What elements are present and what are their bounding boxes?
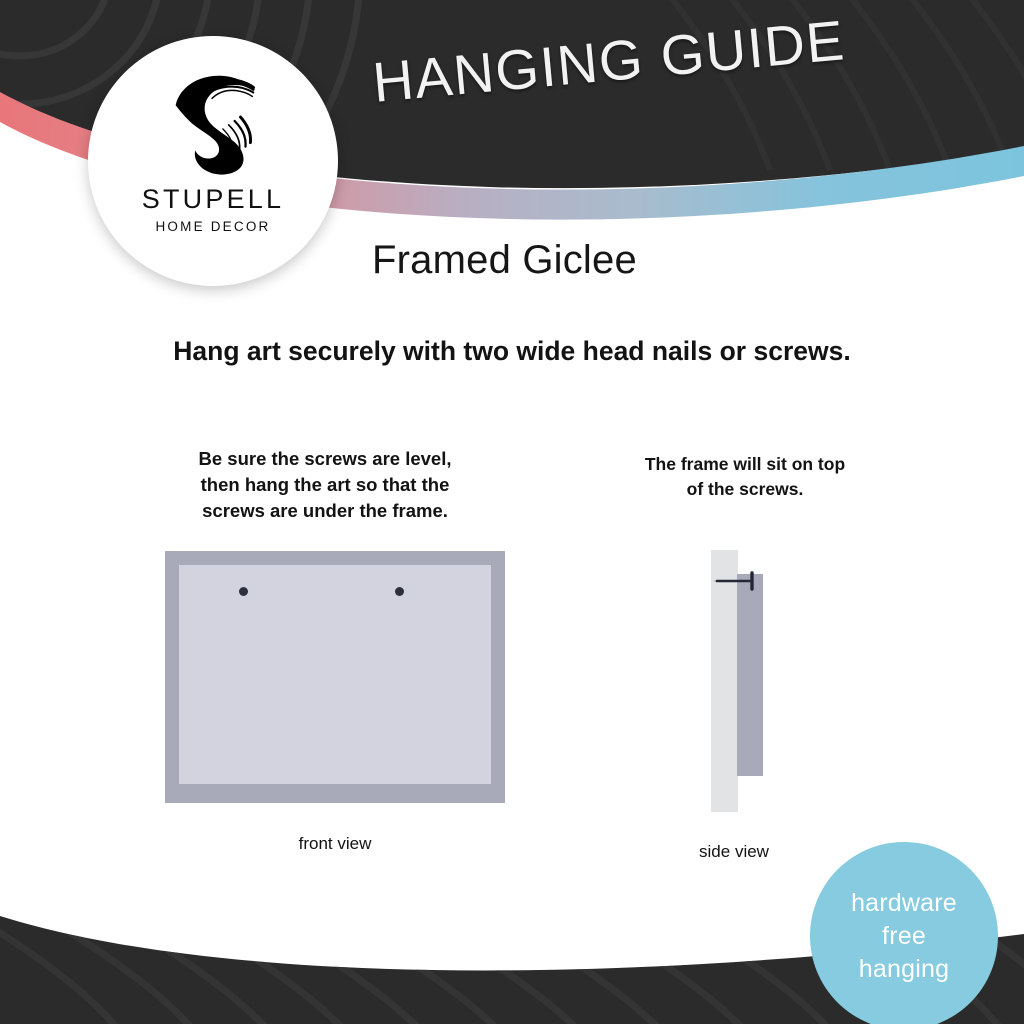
page-title: HANGING GUIDE bbox=[370, 3, 894, 115]
product-name: Framed Giclee bbox=[372, 238, 637, 283]
badge-line-2: free bbox=[882, 920, 926, 953]
main-instruction: Hang art securely with two wide head nai… bbox=[0, 336, 1024, 367]
side-view-caption-line: The frame will sit on top bbox=[595, 452, 895, 477]
front-view-caption: Be sure the screws are level, then hang … bbox=[160, 446, 490, 524]
front-view-caption-line: Be sure the screws are level, bbox=[160, 446, 490, 472]
logo-wordmark: STUPELL bbox=[142, 186, 284, 213]
side-view-diagram bbox=[700, 540, 830, 825]
stupell-swoosh-icon bbox=[154, 62, 272, 180]
front-view-caption-line: then hang the art so that the bbox=[160, 472, 490, 498]
brand-logo-badge: STUPELL HOME DECOR bbox=[88, 36, 338, 286]
front-view-diagram bbox=[165, 551, 505, 803]
logo-tagline: HOME DECOR bbox=[155, 220, 270, 234]
hardware-free-hanging-badge: hardware free hanging bbox=[810, 842, 998, 1024]
side-view-frame bbox=[737, 574, 763, 776]
side-view-label: side view bbox=[669, 842, 799, 862]
front-view-caption-line: screws are under the frame. bbox=[160, 498, 490, 524]
front-view-artwork-area bbox=[179, 565, 491, 784]
side-view-caption: The frame will sit on top of the screws. bbox=[595, 452, 895, 502]
badge-line-3: hanging bbox=[859, 953, 949, 986]
nail-icon bbox=[705, 570, 767, 592]
badge-line-1: hardware bbox=[851, 887, 957, 920]
side-view-caption-line: of the screws. bbox=[595, 477, 895, 502]
screw-dot-left bbox=[239, 587, 248, 596]
front-view-label: front view bbox=[165, 834, 505, 854]
hanging-guide-page: STUPELL HOME DECOR HANGING GUIDE Framed … bbox=[0, 0, 1024, 1024]
screw-dot-right bbox=[395, 587, 404, 596]
